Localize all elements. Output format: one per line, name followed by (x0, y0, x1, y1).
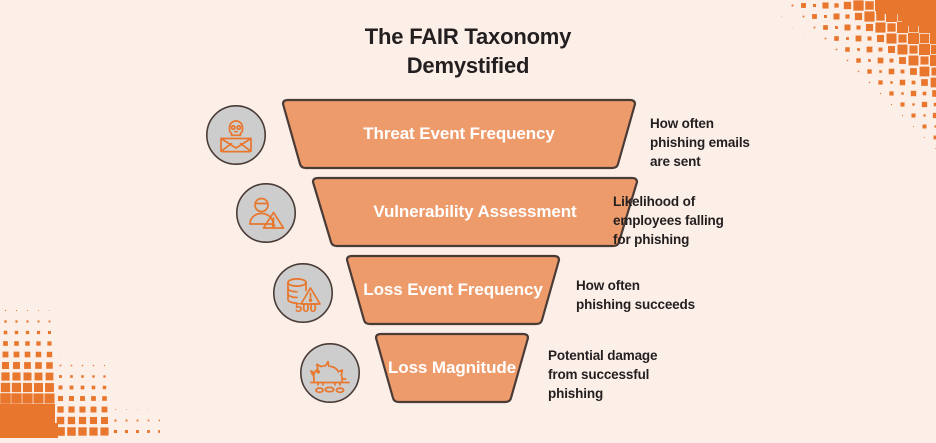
funnel-band-label: Vulnerability Assessment (307, 176, 643, 248)
description-line: employees falling (613, 211, 724, 230)
description-line: Potential damage (548, 346, 657, 365)
funnel-band-label: Threat Event Frequency (277, 98, 641, 170)
database-icon-value: 500 (295, 300, 317, 315)
funnel-band-label-text: Frequency (458, 280, 543, 299)
description-line: How often (576, 276, 695, 295)
funnel-band-loss-magnitude[interactable]: Loss Magnitude (370, 332, 534, 404)
funnel-band-label-text: Threat Event Frequency (363, 123, 554, 144)
funnel-band-label-text: Loss Event (363, 280, 453, 299)
page-title-line-1: The FAIR Taxonomy (0, 22, 936, 51)
fair-taxonomy-funnel: Threat Event Frequency How often phishin… (0, 98, 936, 410)
database-warning-icon: 500 (272, 262, 334, 324)
funnel-row-loss-event-frequency: 500 Loss Event Frequency How often phish… (0, 254, 936, 332)
description-line: phishing emails (650, 133, 750, 152)
description-line: phishing succeeds (576, 295, 695, 314)
broken-piggy-bank-icon (299, 342, 361, 404)
description-line: from successful (548, 365, 657, 384)
description-line: phishing (548, 384, 657, 403)
description-line: Likelihood of (613, 192, 724, 211)
funnel-band-loss-event-frequency[interactable]: Loss Event Frequency (341, 254, 565, 326)
funnel-row-threat-event-frequency: Threat Event Frequency How often phishin… (0, 98, 936, 176)
skull-envelope-icon (205, 104, 267, 166)
description-line: are sent (650, 152, 750, 171)
funnel-band-label-text: Magnitude (432, 358, 516, 377)
funnel-description-vulnerability-assessment: Likelihood of employees falling for phis… (613, 192, 724, 249)
funnel-band-label-text: Vulnerability Assessment (373, 201, 576, 222)
funnel-row-vulnerability-assessment: Vulnerability Assessment Likelihood of e… (0, 176, 936, 254)
funnel-band-label: Loss Magnitude (370, 332, 534, 404)
funnel-band-label: Loss Event Frequency (341, 254, 565, 326)
funnel-band-label-text: Loss (388, 358, 427, 377)
description-line: How often (650, 114, 750, 133)
funnel-band-vulnerability-assessment[interactable]: Vulnerability Assessment (307, 176, 643, 248)
funnel-description-threat-event-frequency: How often phishing emails are sent (650, 114, 750, 171)
funnel-row-loss-magnitude: Loss Magnitude Potential damage from suc… (0, 332, 936, 410)
person-warning-icon (235, 182, 297, 244)
funnel-description-loss-magnitude: Potential damage from successful phishin… (548, 346, 657, 403)
page-title: The FAIR Taxonomy Demystified (0, 22, 936, 81)
description-line: for phishing (613, 230, 724, 249)
page-title-line-2: Demystified (0, 51, 936, 80)
funnel-band-threat-event-frequency[interactable]: Threat Event Frequency (277, 98, 641, 170)
funnel-description-loss-event-frequency: How often phishing succeeds (576, 276, 695, 314)
